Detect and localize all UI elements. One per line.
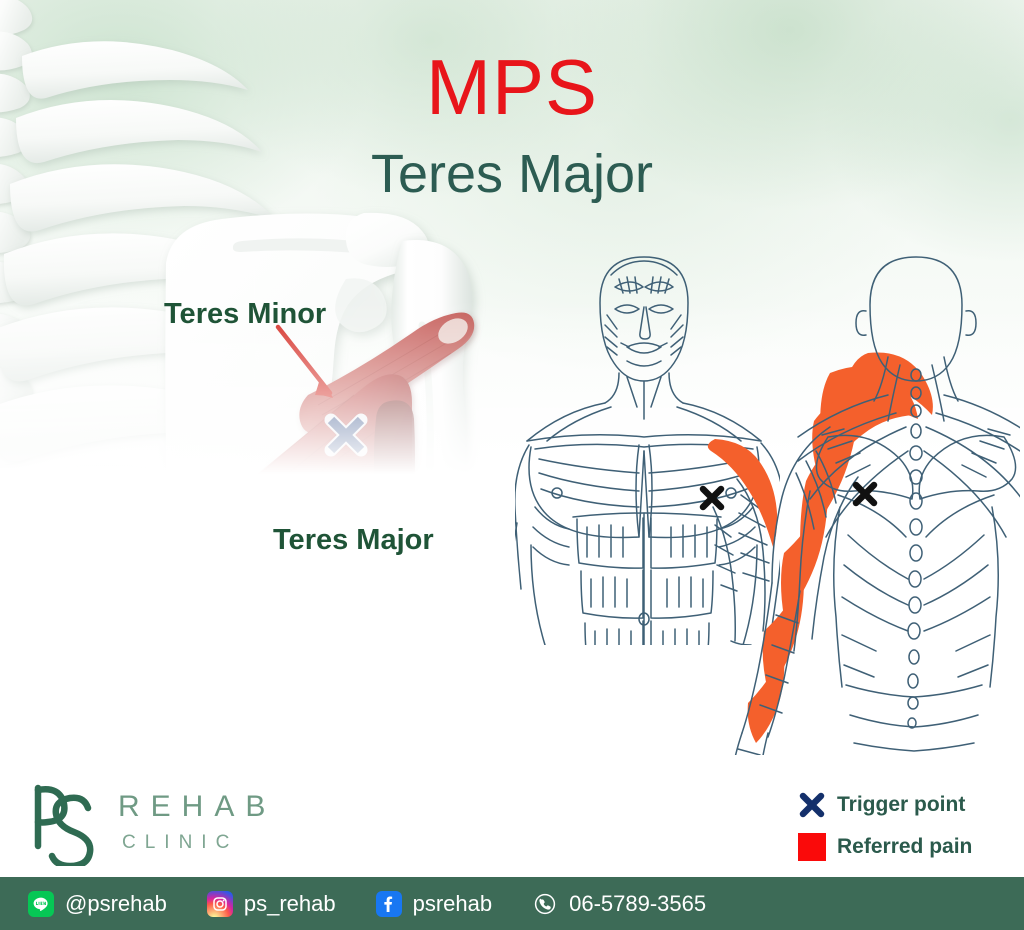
social-label-phone: 06-5789-3565 (569, 891, 706, 917)
square-swatch-icon (795, 833, 829, 861)
trigger-point-marker-posterior (856, 485, 874, 503)
instagram-icon (207, 891, 233, 917)
legend-label-trigger-point: Trigger point (837, 793, 965, 817)
social-label-facebook: psrehab (413, 891, 493, 917)
label-teres-major: Teres Major (273, 524, 434, 556)
legend-item-trigger-point: Trigger point (795, 788, 1010, 822)
legend-label-referred-pain: Referred pain (837, 835, 972, 859)
page-title: MPS (0, 48, 1024, 126)
poster-canvas: MPS Teres Major Teres Minor Teres Major … (0, 0, 1024, 930)
page-subtitle: Teres Major (0, 146, 1024, 202)
label-teres-minor: Teres Minor (164, 298, 326, 330)
social-facebook[interactable]: psrehab (376, 891, 493, 917)
social-label-instagram: ps_rehab (244, 891, 336, 917)
phone-icon (532, 891, 558, 917)
social-label-line: @psrehab (65, 891, 167, 917)
legend-item-referred-pain: Referred pain (795, 830, 1010, 864)
logo-text-rehab: REHAB (118, 790, 276, 824)
social-instagram[interactable]: ps_rehab (207, 891, 336, 917)
line-icon (28, 891, 54, 917)
contact-footer-bar: @psrehab ps_rehab psrehab (0, 877, 1024, 930)
body-chart-posterior (710, 245, 1020, 755)
x-mark-icon (795, 790, 829, 820)
facebook-icon (376, 891, 402, 917)
social-line[interactable]: @psrehab (28, 891, 167, 917)
contact-phone[interactable]: 06-5789-3565 (532, 891, 706, 917)
clinic-logo: REHAB CLINIC (26, 782, 306, 868)
legend: Trigger point Referred pain (795, 788, 1010, 872)
logo-text-clinic: CLINIC (122, 832, 238, 854)
referred-pain-region-posterior (748, 352, 933, 743)
ps-monogram-icon (26, 782, 102, 866)
